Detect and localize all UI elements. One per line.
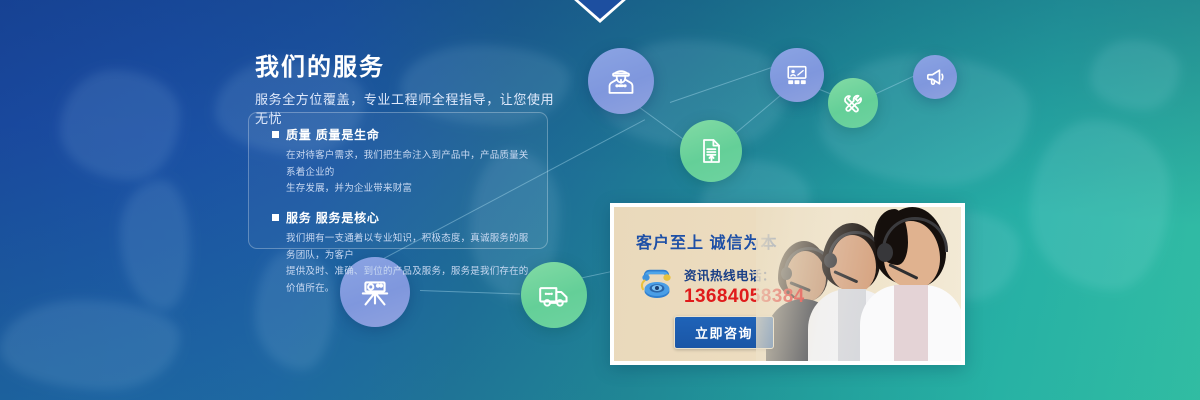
- contact-card: 客户至上 诚信为本 资讯热线电: [610, 203, 965, 365]
- photo-fade-overlay: [756, 207, 961, 361]
- point-title: 服务 服务是核心: [286, 209, 380, 226]
- megaphone-icon: [923, 65, 947, 89]
- telephone-icon: [636, 265, 676, 301]
- bullet-square-icon: [272, 131, 279, 138]
- call-center-agents-photo: [756, 207, 961, 361]
- list-item: 质量 质量是生命 在对待客户需求，我们把生命注入到产品中，产品质量关系着企业的 …: [272, 126, 534, 198]
- service-text-block: 我们的服务 服务全方位覆盖，专业工程师全程指导，让您使用无忧: [255, 55, 555, 128]
- network-node-tools[interactable]: [828, 78, 878, 128]
- point-body-line: 在对待客户需求，我们把生命注入到产品中，产品质量关系着企业的: [286, 148, 534, 181]
- point-body: 我们拥有一支通着以专业知识，积极态度，真诚服务的服务团队，为客户 提供及时、准确…: [272, 231, 534, 298]
- point-title: 质量 质量是生命: [286, 126, 380, 143]
- network-node-document[interactable]: [680, 120, 742, 182]
- network-node-engineer[interactable]: [588, 48, 654, 114]
- point-heading: 服务 服务是核心: [272, 209, 534, 226]
- point-heading: 质量 质量是生命: [272, 126, 534, 143]
- point-body-line: 生存发展，并为企业带来财富: [286, 181, 534, 198]
- point-body: 在对待客户需求，我们把生命注入到产品中，产品质量关系着企业的 生存发展，并为企业…: [272, 148, 534, 198]
- network-node-training[interactable]: [770, 48, 824, 102]
- list-item: 服务 服务是核心 我们拥有一支通着以专业知识，积极态度，真诚服务的服务团队，为客…: [272, 209, 534, 298]
- point-body-line: 我们拥有一支通着以专业知识，积极态度，真诚服务的服务团队，为客户: [286, 231, 534, 264]
- point-body-line: 提供及时、准确、到位的产品及服务，服务是我们存在的价值所在。: [286, 264, 534, 297]
- bullet-square-icon: [272, 214, 279, 221]
- tools-icon: [840, 90, 867, 117]
- network-node-megaphone[interactable]: [913, 55, 957, 99]
- engineer-icon: [604, 64, 638, 98]
- service-banner: 我们的服务 服务全方位覆盖，专业工程师全程指导，让您使用无忧 质量 质量是生命 …: [0, 0, 1200, 400]
- top-notch-inner: [577, 0, 623, 19]
- points-list: 质量 质量是生命 在对待客户需求，我们把生命注入到产品中，产品质量关系着企业的 …: [272, 126, 534, 308]
- training-board-icon: [783, 61, 811, 89]
- delivery-truck-icon: [537, 278, 571, 312]
- page-subtitle: 服务全方位覆盖，专业工程师全程指导，让您使用无忧: [255, 91, 555, 127]
- contact-card-inner: 客户至上 诚信为本 资讯热线电: [614, 207, 961, 361]
- document-upload-icon: [695, 135, 727, 167]
- page-title: 我们的服务: [255, 55, 555, 81]
